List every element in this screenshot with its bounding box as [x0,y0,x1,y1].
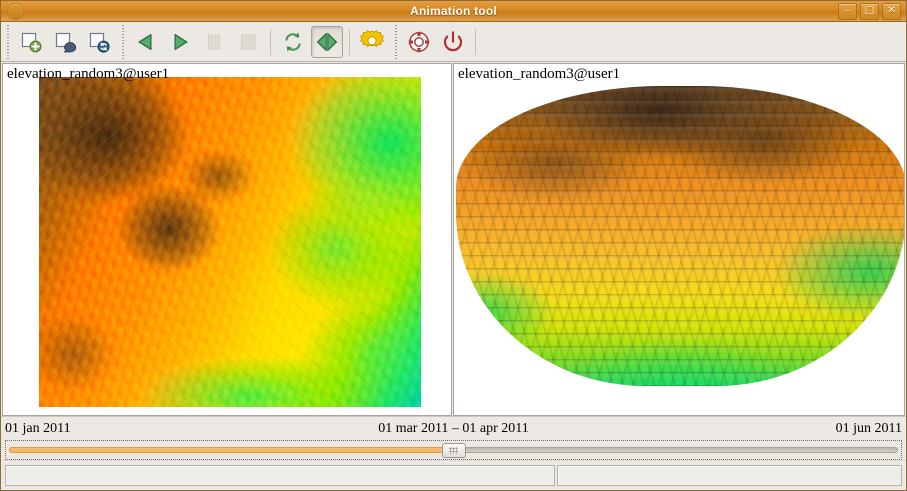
window-menu-icon[interactable] [7,3,24,20]
status-pane-right [557,465,902,486]
minimize-button[interactable]: – [838,3,857,20]
map-area: elevation_random3@user1 elevation_random… [1,62,906,416]
play-back-icon [135,31,157,53]
loop-button[interactable] [277,26,309,58]
power-icon [441,30,465,54]
statusbar [1,460,906,490]
toolbar-grip-3[interactable] [392,25,399,59]
time-current-label: 01 mar 2011 – 01 apr 2011 [1,421,906,437]
reload-animation-button[interactable] [83,26,115,58]
play-backwards-button[interactable] [130,26,162,58]
titlebar: Animation tool – □ ✕ [1,1,906,22]
gear-icon [359,29,385,55]
raster-stream-detail [39,77,421,407]
maximize-icon: □ [861,4,878,19]
toolbar-separator-1 [270,29,271,55]
map-label-right: elevation_random3@user1 [458,66,620,83]
window-title: Animation tool [1,4,906,18]
time-slider-fill [9,447,454,453]
help-button[interactable] [403,26,435,58]
time-start-label: 01 jan 2011 [5,421,71,437]
time-slider[interactable] [6,441,901,459]
toolbar-grip-2[interactable] [119,25,126,59]
reload-layer-icon [87,30,111,54]
settings-button[interactable] [356,26,388,58]
toolbar [1,22,906,62]
slider-grip-icon [449,447,458,454]
map-panel-left[interactable]: elevation_random3@user1 [2,63,452,416]
animation-tool-window: Animation tool – □ ✕ [0,0,907,491]
close-icon: ✕ [883,4,900,19]
play-forward-button[interactable] [164,26,196,58]
minimize-icon: – [839,4,856,19]
stop-icon [237,31,259,53]
toolbar-separator-2 [349,29,350,55]
toolbar-separator-3 [475,29,476,55]
time-slider-row [1,440,906,460]
status-pane-left [5,465,555,486]
edit-animation-button[interactable] [49,26,81,58]
stop-button[interactable] [232,26,264,58]
window-controls: – □ ✕ [838,3,904,20]
surface-highlights [456,86,905,386]
elevation-surface-3d[interactable] [456,86,905,408]
add-animation-button[interactable] [15,26,47,58]
elevation-raster-2d[interactable] [39,77,421,407]
time-label-bar: 01 jan 2011 01 mar 2011 – 01 apr 2011 01… [1,416,906,440]
lifebuoy-icon [407,30,431,54]
quit-button[interactable] [437,26,469,58]
map-label-left: elevation_random3@user1 [7,66,169,83]
toolbar-grip-1[interactable] [4,25,11,59]
swing-icon [315,30,339,54]
edit-layer-icon [53,30,77,54]
add-layer-icon [19,30,43,54]
pause-icon [203,31,225,53]
time-slider-handle[interactable] [442,443,466,458]
close-button[interactable]: ✕ [882,3,901,20]
maximize-button[interactable]: □ [860,3,879,20]
loop-icon [281,30,305,54]
pause-button[interactable] [198,26,230,58]
map-panel-right[interactable]: elevation_random3@user1 [453,63,905,416]
swing-button[interactable] [311,26,343,58]
play-forward-icon [169,31,191,53]
time-end-label: 01 jun 2011 [836,421,902,437]
